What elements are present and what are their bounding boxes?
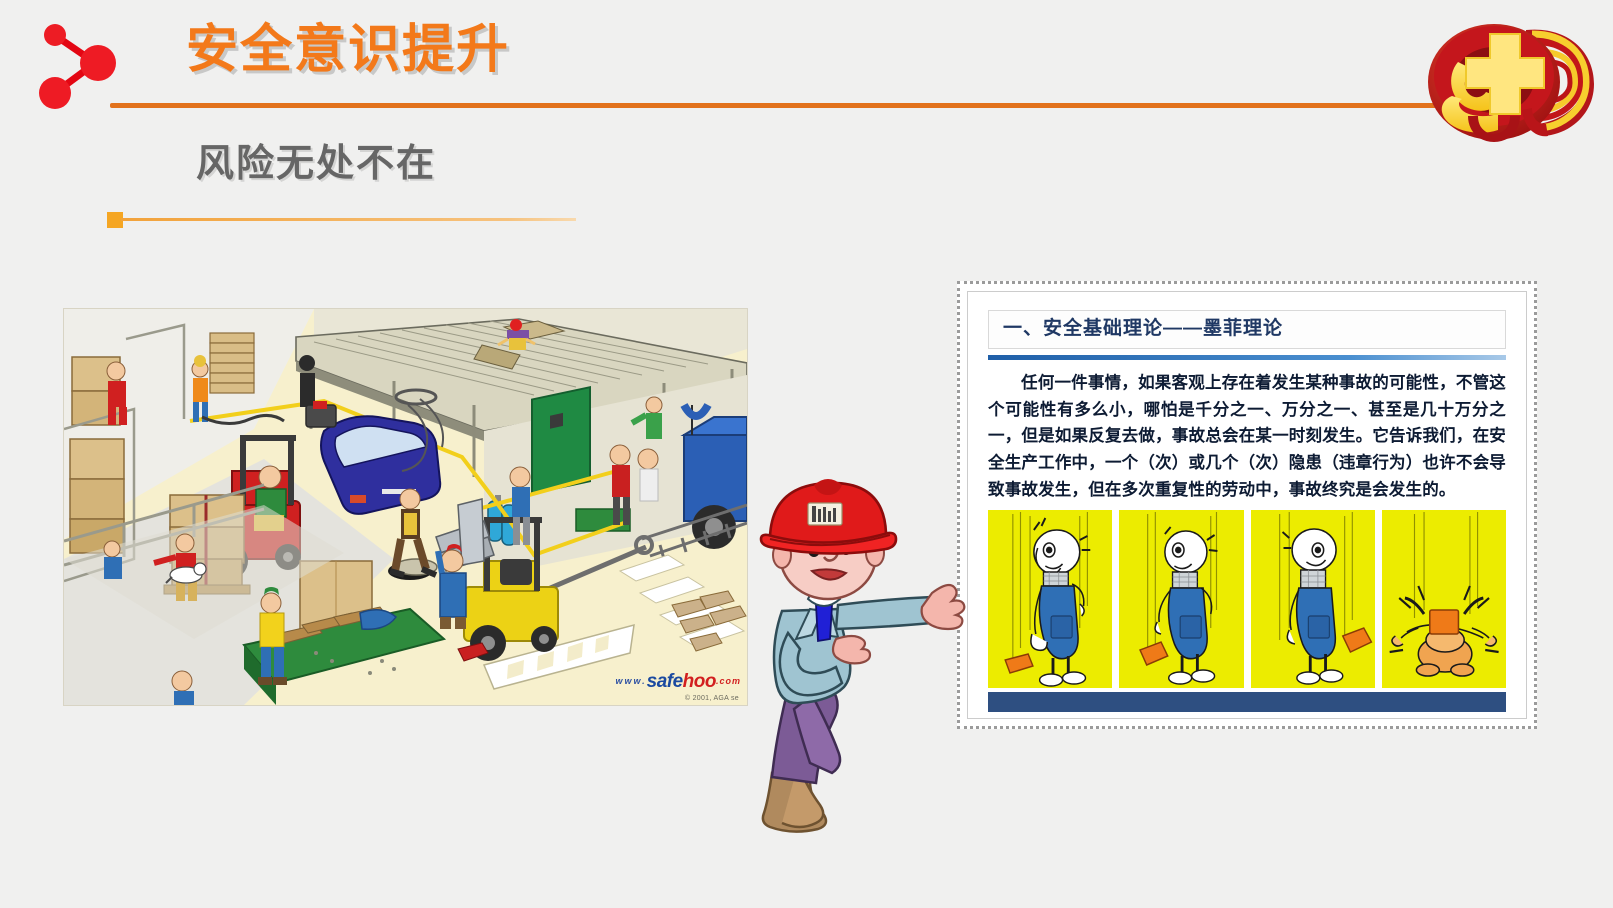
page-subtitle: 风险无处不在 xyxy=(196,145,436,183)
document-heading-rule xyxy=(988,355,1506,360)
document-screenshot-frame: 一、安全基础理论——墨菲理论 任何一件事情，如果客观上存在着发生某种事故的可能性… xyxy=(957,281,1537,729)
document-heading-box: 一、安全基础理论——墨菲理论 xyxy=(988,310,1506,349)
document-body-text: 任何一件事情，如果客观上存在着发生某种事故的可能性，不管这个可能性有多么小，哪怕… xyxy=(988,370,1506,504)
document-page: 一、安全基础理论——墨菲理论 任何一件事情，如果客观上存在着发生某种事故的可能性… xyxy=(967,291,1527,719)
comic-panel-3 xyxy=(1251,510,1375,688)
comic-panel-1 xyxy=(988,510,1112,688)
falling-brick-comic-strip xyxy=(988,510,1506,688)
page-title: 安全意识提升 xyxy=(186,24,510,76)
warehouse-copyright: © 2001, AGA se xyxy=(685,695,739,702)
cartoon-safety-worker xyxy=(736,443,1006,843)
comic-panel-4 xyxy=(1382,510,1506,688)
watermark-hoo: hoo xyxy=(683,671,716,692)
warehouse-hazard-spotting-poster: www.safehoo.com © 2001, AGA se xyxy=(64,309,747,705)
warehouse-watermark: www.safehoo.com xyxy=(615,672,741,691)
watermark-www: www. xyxy=(615,676,646,686)
safety-production-emblem xyxy=(1398,4,1608,164)
document-footer-bar xyxy=(988,692,1506,712)
subtitle-divider xyxy=(121,218,576,221)
comic-panel-2 xyxy=(1119,510,1243,688)
share-network-icon xyxy=(28,14,138,114)
title-divider xyxy=(110,103,1455,108)
document-heading: 一、安全基础理论——墨菲理论 xyxy=(1003,319,1493,340)
slide-canvas: 安全意识提升 风险无处不在 xyxy=(0,0,1613,908)
watermark-safe: safe xyxy=(647,671,683,692)
